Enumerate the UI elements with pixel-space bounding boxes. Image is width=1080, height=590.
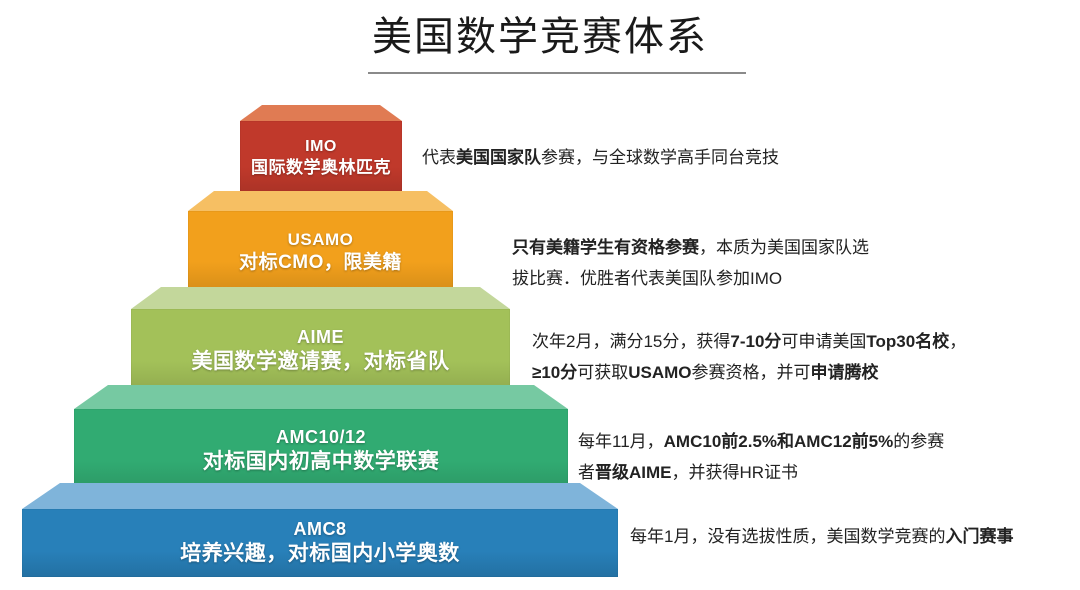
description-usamo-line-1: 只有美籍学生有资格参赛，本质为美国国家队选 [512,232,869,263]
description-imo: 代表美国国家队参赛，与全球数学高手同台竞技 [422,142,779,173]
pyramid-level-amc1012-subtitle: 对标国内初高中数学联赛 [203,449,440,476]
text-segment: 次年2月，满分15分，获得 [532,332,730,351]
pyramid-level-amc8-subtitle: 培养兴趣，对标国内小学奥数 [180,541,460,568]
text-segment: ≥10分 [532,363,577,382]
text-segment: 代表 [422,148,456,167]
text-segment: 参赛，与全球数学高手同台竞技 [541,148,779,167]
description-amc1012-line-1: 每年11月，AMC10前2.5%和AMC12前5%的参赛 [578,426,944,457]
pyramid-level-aime-code: AIME [297,326,344,349]
description-aime-line-2: ≥10分可获取USAMO参赛资格，并可申请腾校 [532,357,966,388]
pyramid-level-usamo-code: USAMO [288,229,354,251]
text-segment: 入门赛事 [945,527,1013,546]
text-segment: 7-10分 [730,332,781,351]
text-segment: ，并获得HR证书 [672,463,799,482]
pyramid-level-amc8[interactable]: AMC8培养兴趣，对标国内小学奥数 [22,483,618,577]
pyramid-level-usamo[interactable]: USAMO对标CMO，限美籍 [188,191,453,293]
pyramid-level-usamo-subtitle: 对标CMO，限美籍 [239,251,402,275]
text-segment: 晋级AIME [595,463,672,482]
pyramid-level-aime-subtitle: 美国数学邀请赛，对标省队 [192,349,450,376]
pyramid-level-aime-top-face [131,287,510,309]
text-segment: 可获取 [577,363,628,382]
text-segment: AMC10前2.5%和AMC12前5% [664,432,894,451]
pyramid-level-imo[interactable]: IMO国际数学奥林匹克 [240,105,402,195]
description-usamo: 只有美籍学生有资格参赛，本质为美国国家队选拔比赛．优胜者代表美国队参加IMO [512,232,869,294]
description-aime: 次年2月，满分15分，获得7-10分可申请美国Top30名校，≥10分可获取US… [532,326,966,388]
description-amc8-line-1: 每年1月，没有选拔性质，美国数学竞赛的入门赛事 [630,521,1013,552]
text-segment: 拔比赛．优胜者代表美国队参加IMO [512,269,782,288]
description-amc8: 每年1月，没有选拔性质，美国数学竞赛的入门赛事 [630,521,1013,552]
slide-canvas: 美国数学竞赛体系 IMO国际数学奥林匹克USAMO对标CMO，限美籍AIME美国… [0,0,1080,590]
description-aime-line-1: 次年2月，满分15分，获得7-10分可申请美国Top30名校， [532,326,966,357]
pyramid-level-amc1012-top-face [74,385,568,409]
pyramid-level-aime[interactable]: AIME美国数学邀请赛，对标省队 [131,287,510,393]
pyramid-level-imo-top-face [240,105,402,121]
pyramid-level-imo-subtitle: 国际数学奥林匹克 [251,157,391,179]
pyramid-level-amc8-top-face [22,483,618,509]
text-segment: 美国国家队 [456,148,541,167]
pyramid-level-usamo-top-face [188,191,453,211]
pyramid-level-amc8-code: AMC8 [293,518,346,541]
text-segment: 可申请美国 [781,332,866,351]
text-segment: 的参赛 [893,432,944,451]
text-segment: USAMO [628,363,691,382]
description-amc1012-line-2: 者晋级AIME，并获得HR证书 [578,457,944,488]
text-segment: 申请腾校 [811,363,879,382]
pyramid-diagram: IMO国际数学奥林匹克USAMO对标CMO，限美籍AIME美国数学邀请赛，对标省… [0,0,640,590]
pyramid-level-usamo-front-face: USAMO对标CMO，限美籍 [188,211,453,293]
pyramid-level-imo-code: IMO [305,137,337,157]
pyramid-level-aime-front-face: AIME美国数学邀请赛，对标省队 [131,309,510,393]
text-segment: 每年11月， [578,432,664,451]
pyramid-level-amc1012-code: AMC10/12 [276,426,366,449]
pyramid-level-amc8-front-face: AMC8培养兴趣，对标国内小学奥数 [22,509,618,577]
text-segment: Top30名校 [866,332,949,351]
pyramid-level-imo-front-face: IMO国际数学奥林匹克 [240,121,402,195]
text-segment: 参赛资格，并可 [692,363,811,382]
text-segment: ，本质为美国国家队选 [699,238,869,257]
text-segment: ， [949,332,966,351]
text-segment: 者 [578,463,595,482]
text-segment: 每年1月，没有选拔性质，美国数学竞赛的 [630,527,945,546]
pyramid-level-amc1012-front-face: AMC10/12对标国内初高中数学联赛 [74,409,568,493]
pyramid-level-amc1012[interactable]: AMC10/12对标国内初高中数学联赛 [74,385,568,493]
description-imo-line-1: 代表美国国家队参赛，与全球数学高手同台竞技 [422,142,779,173]
text-segment: 只有美籍学生有资格参赛 [512,238,699,257]
description-usamo-line-2: 拔比赛．优胜者代表美国队参加IMO [512,263,869,294]
description-amc1012: 每年11月，AMC10前2.5%和AMC12前5%的参赛者晋级AIME，并获得H… [578,426,944,488]
